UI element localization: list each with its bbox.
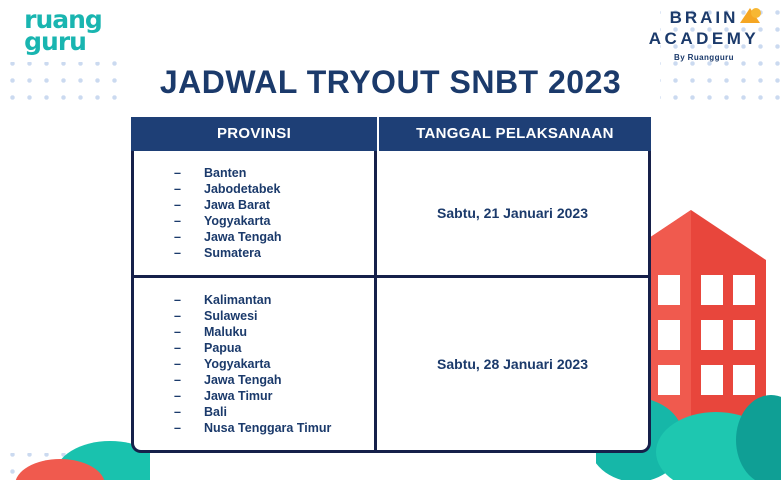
bullet-dash: – <box>174 197 204 213</box>
date-cell: Sabtu, 21 Januari 2023 <box>377 151 648 275</box>
page-title: JADWAL TRYOUT SNBT 2023 <box>0 64 781 101</box>
province-label: Maluku <box>204 324 247 340</box>
province-label: Yogyakarta <box>204 356 270 372</box>
list-item: –Maluku <box>134 324 374 340</box>
list-item: –Yogyakarta <box>134 356 374 372</box>
list-item: –Kalimantan <box>134 292 374 308</box>
table-header-provinsi: PROVINSI <box>131 117 379 151</box>
list-item: –Bali <box>134 404 374 420</box>
bullet-dash: – <box>174 388 204 404</box>
bullet-dash: – <box>174 308 204 324</box>
table-row: –Kalimantan –Sulawesi –Maluku –Papua –Yo… <box>134 278 648 450</box>
table-header-row: PROVINSI TANGGAL PELAKSANAAN <box>131 117 651 151</box>
bullet-dash: – <box>174 404 204 420</box>
date-cell: Sabtu, 28 Januari 2023 <box>377 278 648 450</box>
list-item: –Jawa Tengah <box>134 229 374 245</box>
province-label: Jawa Tengah <box>204 372 282 388</box>
province-label: Yogyakarta <box>204 213 270 229</box>
bullet-dash: – <box>174 165 204 181</box>
list-item: –Banten <box>134 165 374 181</box>
province-label: Sumatera <box>204 245 261 261</box>
bullet-dash: – <box>174 213 204 229</box>
province-label: Sulawesi <box>204 308 258 324</box>
list-item: –Papua <box>134 340 374 356</box>
province-label: Jawa Barat <box>204 197 270 213</box>
bullet-dash: – <box>174 292 204 308</box>
ruangguru-logo: ruang guru <box>0 0 122 62</box>
list-item: –Nusa Tenggara Timur <box>134 420 374 436</box>
list-item: –Jabodetabek <box>134 181 374 197</box>
province-label: Bali <box>204 404 227 420</box>
table-body: –Banten –Jabodetabek –Jawa Barat –Yogyak… <box>131 151 651 453</box>
schedule-table: PROVINSI TANGGAL PELAKSANAAN –Banten –Ja… <box>131 117 651 453</box>
list-item: –Sumatera <box>134 245 374 261</box>
bullet-dash: – <box>174 372 204 388</box>
bullet-dash: – <box>174 181 204 197</box>
province-label: Banten <box>204 165 246 181</box>
province-label: Kalimantan <box>204 292 271 308</box>
bullet-dash: – <box>174 229 204 245</box>
bullet-dash: – <box>174 245 204 261</box>
list-item: –Jawa Tengah <box>134 372 374 388</box>
province-cell: –Kalimantan –Sulawesi –Maluku –Papua –Yo… <box>134 278 377 450</box>
bullet-dash: – <box>174 420 204 436</box>
ruangguru-logo-line2: guru <box>24 31 102 53</box>
bullet-dash: – <box>174 340 204 356</box>
table-row: –Banten –Jabodetabek –Jawa Barat –Yogyak… <box>134 151 648 278</box>
province-label: Jawa Timur <box>204 388 273 404</box>
province-cell: –Banten –Jabodetabek –Jawa Barat –Yogyak… <box>134 151 377 275</box>
province-label: Jawa Tengah <box>204 229 282 245</box>
table-header-tanggal: TANGGAL PELAKSANAAN <box>379 117 651 151</box>
brain-academy-logo: BRAIN ACADEMY By Ruangguru <box>639 8 769 62</box>
brain-academy-line2: ACADEMY <box>639 29 769 49</box>
foliage-illustration <box>0 290 150 480</box>
brain-academy-mark-icon <box>737 5 763 31</box>
province-label: Jabodetabek <box>204 181 280 197</box>
province-label: Papua <box>204 340 242 356</box>
list-item: –Sulawesi <box>134 308 374 324</box>
list-item: –Yogyakarta <box>134 213 374 229</box>
list-item: –Jawa Timur <box>134 388 374 404</box>
brain-academy-line3: By Ruangguru <box>639 53 769 62</box>
province-label: Nusa Tenggara Timur <box>204 420 331 436</box>
list-item: –Jawa Barat <box>134 197 374 213</box>
bullet-dash: – <box>174 356 204 372</box>
bullet-dash: – <box>174 324 204 340</box>
